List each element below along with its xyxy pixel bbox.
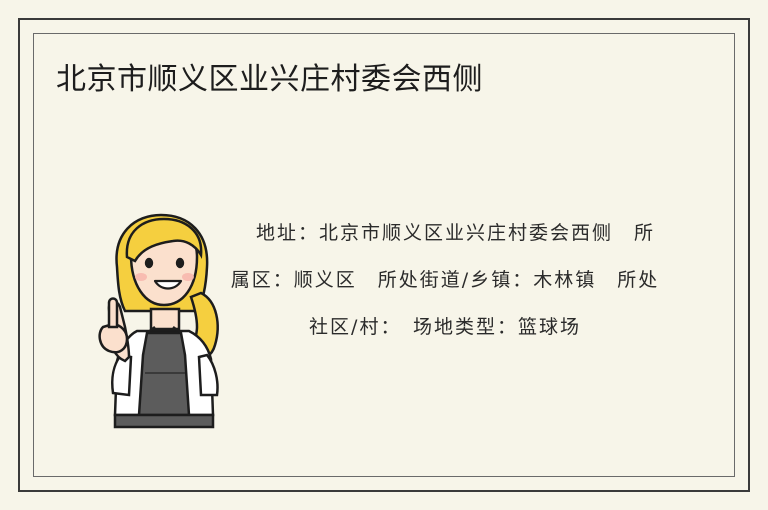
content-area: 地址：北京市顺义区业兴庄村委会西侧 所属区：顺义区 所处街道/乡镇：木林镇 所处…	[40, 180, 728, 460]
woman-pointing-up-illustration	[85, 205, 245, 455]
venue-info-full: 地址：北京市顺义区业兴庄村委会西侧 所属区：顺义区 所处街道/乡镇：木林镇 所处…	[231, 222, 659, 338]
page-title: 北京市顺义区业兴庄村委会西侧	[56, 60, 696, 100]
venue-info-text: 地址：北京市顺义区业兴庄村委会西侧 所属区：顺义区 所处街道/乡镇：木林镇 所处…	[230, 210, 660, 351]
page-root: 北京市顺义区业兴庄村委会西侧	[0, 0, 768, 510]
